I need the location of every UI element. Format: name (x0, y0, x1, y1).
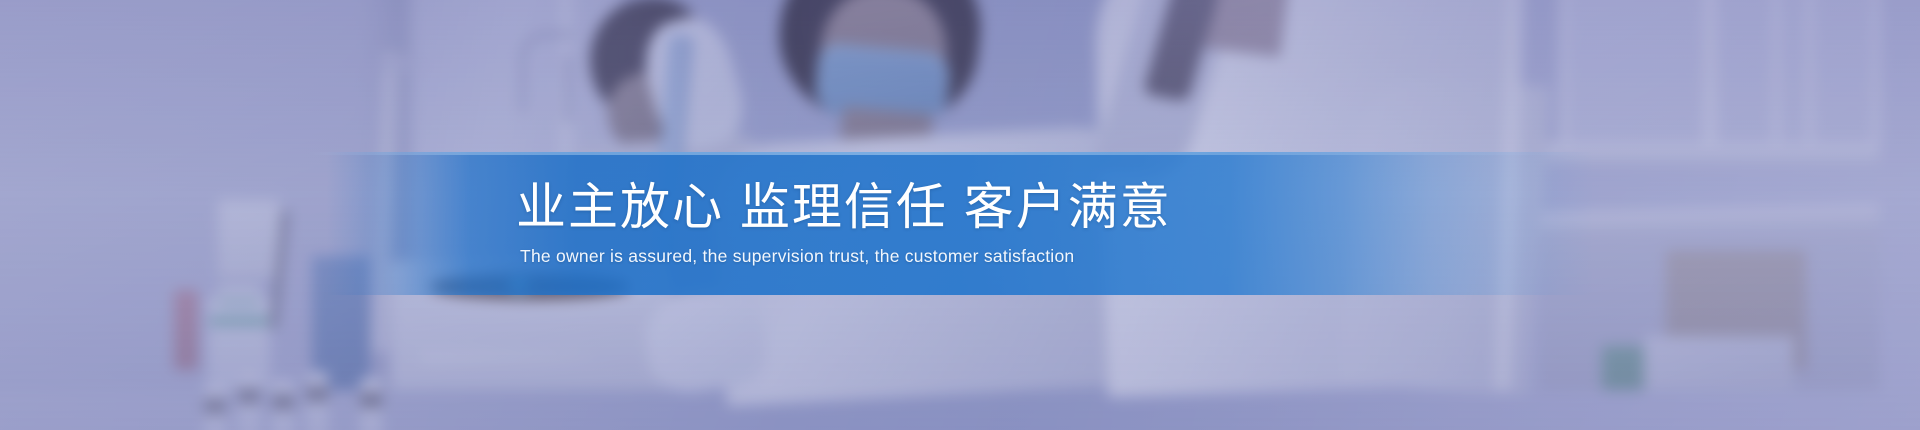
banner-headline: 业主放心 监理信任 客户满意 (516, 180, 1172, 234)
hero-banner: 业主放心 监理信任 客户满意 The owner is assured, the… (0, 0, 1920, 430)
banner-text-block: 业主放心 监理信任 客户满意 The owner is assured, the… (0, 152, 1920, 295)
banner-subheadline: The owner is assured, the supervision tr… (516, 245, 1074, 268)
